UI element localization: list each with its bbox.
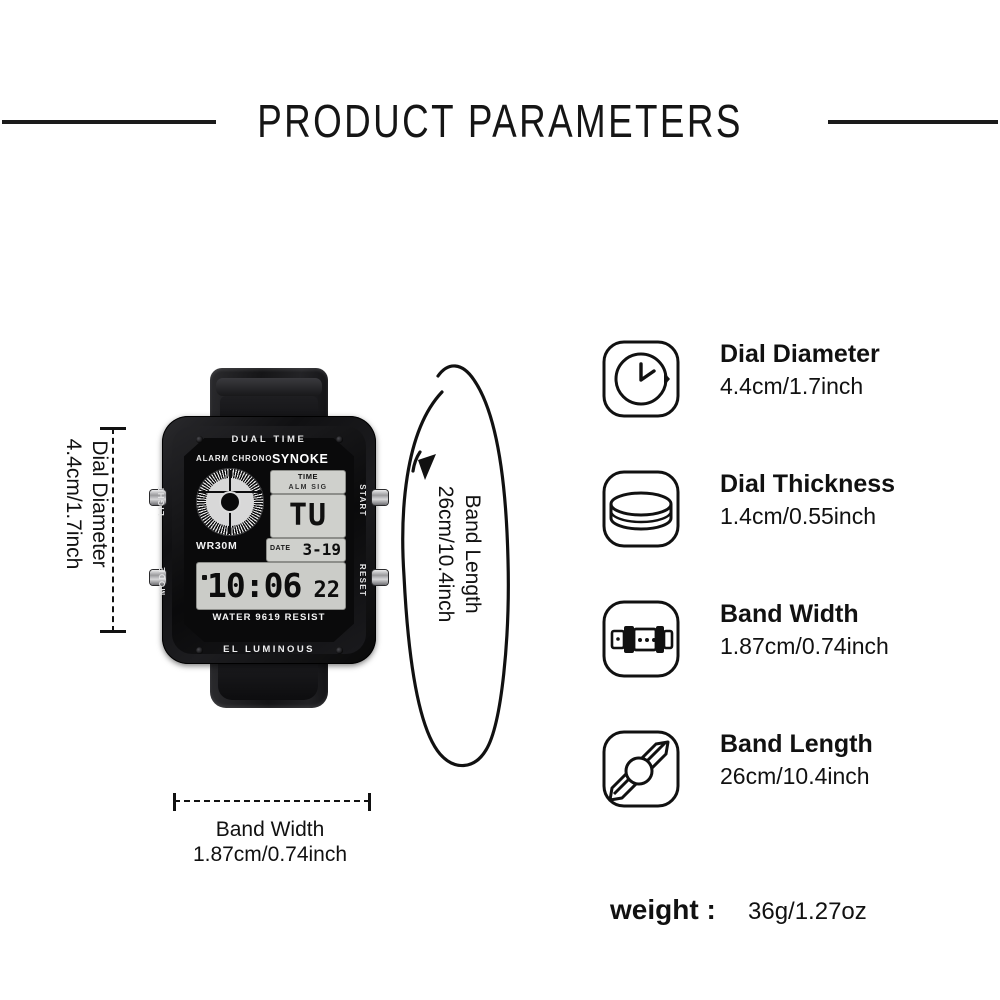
water-resist-engraving: WATER 9619 RESIST (194, 612, 344, 623)
band-width-value: 1.87cm/0.74inch (150, 843, 390, 867)
dial-diameter-label-group: Dial Diameter 4.4cm/1.7inch (60, 406, 112, 602)
alarm-chrono-label: ALARM CHRONO (196, 454, 272, 463)
reset-button-label: RESET (358, 564, 367, 597)
lcd-date-label: DATE (270, 545, 291, 552)
dimension-cap-right (368, 793, 371, 811)
lcd-date-field: DATE 3-19 (266, 538, 346, 562)
case-screw-bottom-left (196, 647, 203, 654)
band-width-name: Band Width (150, 818, 390, 842)
lcd-date-value: 3-19 (302, 540, 341, 560)
start-button[interactable] (372, 490, 388, 505)
reset-button[interactable] (372, 570, 388, 585)
spec-text-block: Dial Thickness 1.4cm/0.55inch (720, 468, 986, 532)
spec-name: Dial Diameter (720, 338, 986, 370)
lcd-mode-strip: TIME ALM SIG (270, 470, 346, 494)
spec-text-block: Band Width 1.87cm/0.74inch (720, 598, 986, 662)
spec-value: 1.87cm/0.74inch (720, 630, 986, 662)
dimension-cap-left (173, 793, 176, 811)
dimension-cap-bottom (100, 630, 126, 633)
weight-label: weight : (610, 890, 716, 930)
spec-row-band-width: Band Width 1.87cm/0.74inch (596, 596, 986, 700)
el-luminous-engraving: EL LUMINOUS (184, 642, 354, 658)
spec-row-dial-thickness: Dial Thickness 1.4cm/0.55inch (596, 466, 986, 570)
dial-diameter-name: Dial Diameter (86, 406, 112, 602)
watch-band-buckle-icon (600, 598, 682, 680)
lcd-time-field: 10:06 22 (196, 562, 346, 610)
dial-diameter-value: 4.4cm/1.7inch (60, 406, 86, 602)
spec-list: Dial Diameter 4.4cm/1.7inch Dial Thickne… (596, 336, 986, 836)
spec-row-band-length: Band Length 26cm/10.4inch (596, 726, 986, 830)
band-width-dimension: Band Width 1.87cm/0.74inch (150, 790, 390, 870)
case-screw-top-left (196, 436, 203, 443)
dimension-dashed-line (112, 428, 114, 632)
case-screw-bottom-right (336, 647, 343, 654)
case-screw-top-right (336, 436, 343, 443)
band-length-dimension: Band Length 26cm/10.4inch (398, 336, 518, 786)
watch-dial-icon (600, 338, 682, 420)
spec-value: 26cm/10.4inch (720, 760, 986, 792)
start-button-label: START (358, 484, 367, 517)
watch-display-area: ALARM CHRONO SYNOKE TIME ALM SIG TU WR30… (194, 452, 344, 634)
light-button-label: LIGHT (157, 485, 166, 516)
lcd-day-of-week: TU (270, 494, 346, 538)
disc-thickness-icon (600, 468, 682, 550)
title-rule-left (2, 120, 216, 124)
dial-diameter-dimension: Dial Diameter 4.4cm/1.7inch (46, 420, 126, 640)
lcd-time-seconds: 22 (314, 577, 341, 605)
spec-name: Dial Thickness (720, 468, 986, 500)
subdial-center-hub (221, 493, 239, 511)
water-rating-label: WR30M (196, 540, 237, 552)
weight-value: 36g/1.27oz (748, 892, 867, 932)
spec-name: Band Length (720, 728, 986, 760)
page-title: PRODUCT PARAMETERS (100, 92, 900, 150)
weight-row: weight : 36g/1.27oz (596, 890, 996, 934)
spec-text-block: Band Length 26cm/10.4inch (720, 728, 986, 792)
title-bar: PRODUCT PARAMETERS (0, 92, 1000, 156)
spec-row-dial-diameter: Dial Diameter 4.4cm/1.7inch (596, 336, 986, 440)
infographic-canvas: PRODUCT PARAMETERS Dial Diameter 4.4cm/1… (0, 0, 1000, 1000)
chrono-subdial (196, 468, 264, 536)
dimension-dashed-line-horizontal (174, 800, 370, 802)
brand-logo-text: SYNOKE (272, 452, 328, 466)
lcd-mode-time: TIME (271, 471, 345, 482)
spec-value: 1.4cm/0.55inch (720, 500, 986, 532)
band-length-label-group: Band Length 26cm/10.4inch (430, 439, 486, 669)
band-length-value: 26cm/10.4inch (432, 439, 459, 669)
spec-name: Band Width (720, 598, 986, 630)
lcd-time-hours-minutes: 10:06 (207, 564, 301, 608)
dual-time-engraving: DUAL TIME (184, 432, 354, 448)
title-rule-right (828, 120, 998, 124)
band-length-name: Band Length (459, 439, 486, 669)
mode-button-label: MODE (158, 566, 167, 595)
watch-strap-diagonal-icon (600, 728, 682, 810)
spec-text-block: Dial Diameter 4.4cm/1.7inch (720, 338, 986, 402)
lcd-mode-alarm-signal: ALM SIG (271, 482, 345, 493)
spec-value: 4.4cm/1.7inch (720, 370, 986, 402)
strap-keeper-top (216, 378, 322, 396)
watch-product-image: DUAL TIME EL LUMINOUS ALARM CHRONO SYNOK… (150, 368, 390, 708)
